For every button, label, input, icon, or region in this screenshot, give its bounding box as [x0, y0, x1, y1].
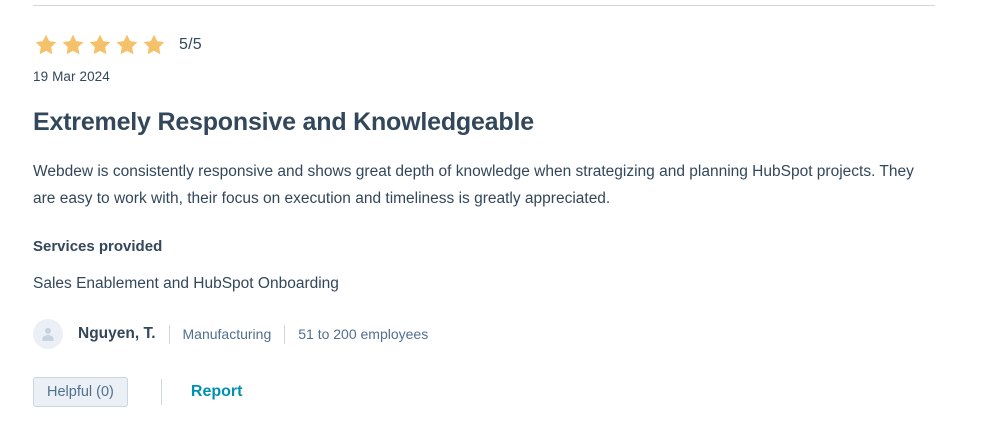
services-provided-heading: Services provided [33, 238, 953, 255]
reviewer-name: Nguyen, T. [78, 325, 156, 343]
helpful-button[interactable]: Helpful (0) [33, 377, 128, 407]
review-body: Webdew is consistently responsive and sh… [33, 158, 938, 212]
reviewer-company-size: 51 to 200 employees [298, 326, 428, 342]
review-date: 19 Mar 2024 [33, 69, 953, 84]
reviewer-row: Nguyen, T. Manufacturing 51 to 200 emplo… [33, 319, 953, 349]
star-icon [87, 32, 113, 58]
review-title: Extremely Responsive and Knowledgeable [33, 107, 953, 137]
star-rating [33, 32, 167, 58]
meta-separator [169, 325, 170, 344]
reviewer-industry: Manufacturing [183, 326, 272, 342]
report-link[interactable]: Report [191, 383, 243, 401]
user-avatar-icon [33, 319, 63, 349]
star-icon [114, 32, 140, 58]
star-icon [33, 32, 59, 58]
star-icon [60, 32, 86, 58]
review-actions: Helpful (0) Report [33, 377, 953, 407]
rating-value: 5/5 [179, 36, 202, 54]
star-icon [141, 32, 167, 58]
services-provided-value: Sales Enablement and HubSpot Onboarding [33, 275, 953, 293]
section-divider [33, 5, 935, 6]
rating-row: 5/5 [33, 30, 953, 60]
action-separator [161, 379, 162, 405]
review-card: 5/5 19 Mar 2024 Extremely Responsive and… [0, 0, 990, 438]
meta-separator [284, 325, 285, 344]
review-content: 5/5 19 Mar 2024 Extremely Responsive and… [33, 30, 953, 407]
